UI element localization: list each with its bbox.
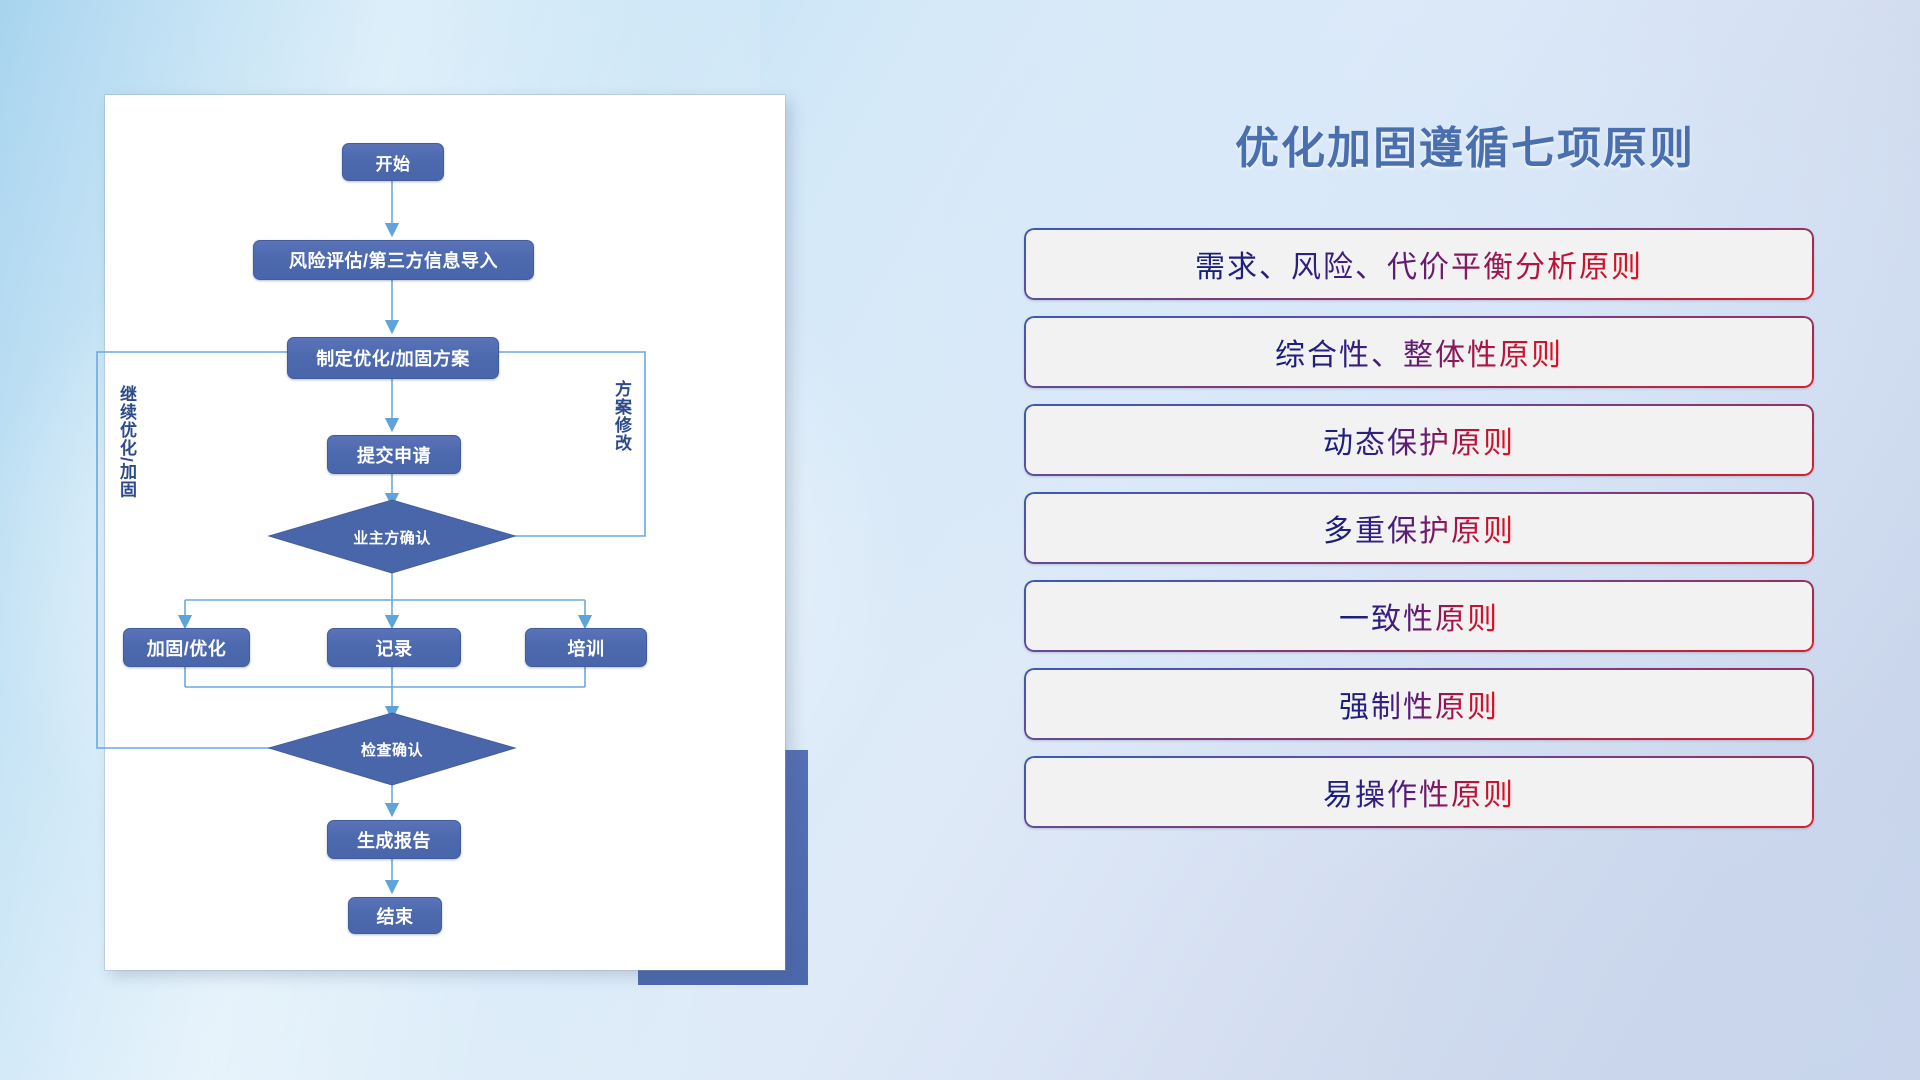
principles-list: 需求、风险、代价平衡分析原则 综合性、整体性原则 动态保护原则 多重保护原则 一… — [1024, 228, 1814, 844]
principle-label: 多重保护原则 — [1323, 506, 1515, 550]
edge-label-plan-revision: 方案修改 — [613, 380, 630, 452]
principle-item[interactable]: 一致性原则 — [1024, 580, 1814, 652]
principle-label: 一致性原则 — [1339, 594, 1499, 638]
flow-node-risk-assessment[interactable]: 风险评估/第三方信息导入 — [253, 240, 534, 280]
principles-panel: 优化加固遵循七项原则 需求、风险、代价平衡分析原则 综合性、整体性原则 动态保护… — [1010, 0, 1920, 1080]
flow-node-submit-application[interactable]: 提交申请 — [327, 435, 461, 474]
flowchart: 业主方确认 检查确认 开始 风险评估/第三方信息导入 制定优化/加固方案 提交申… — [105, 95, 785, 970]
principle-item[interactable]: 需求、风险、代价平衡分析原则 — [1024, 228, 1814, 300]
flow-node-generate-report[interactable]: 生成报告 — [327, 820, 461, 859]
principle-label: 动态保护原则 — [1323, 418, 1515, 462]
flow-node-start[interactable]: 开始 — [342, 143, 444, 181]
principle-item[interactable]: 多重保护原则 — [1024, 492, 1814, 564]
flow-node-end[interactable]: 结束 — [348, 897, 442, 934]
principle-label: 强制性原则 — [1339, 682, 1499, 726]
flow-node-reinforce-optimize[interactable]: 加固/优化 — [123, 628, 250, 667]
edge-label-continue-optimize: 继续优化/加固 — [118, 385, 135, 499]
flow-node-check-confirm-label: 检查确认 — [312, 735, 472, 763]
flow-node-owner-confirm-label: 业主方确认 — [312, 523, 472, 551]
principle-label: 综合性、整体性原则 — [1275, 330, 1563, 374]
principle-item[interactable]: 强制性原则 — [1024, 668, 1814, 740]
flow-node-record[interactable]: 记录 — [327, 628, 461, 667]
flow-node-make-plan[interactable]: 制定优化/加固方案 — [287, 337, 499, 379]
principle-label: 需求、风险、代价平衡分析原则 — [1195, 242, 1643, 286]
flow-node-training[interactable]: 培训 — [525, 628, 647, 667]
principle-item[interactable]: 动态保护原则 — [1024, 404, 1814, 476]
principle-item[interactable]: 易操作性原则 — [1024, 756, 1814, 828]
principle-item[interactable]: 综合性、整体性原则 — [1024, 316, 1814, 388]
principle-label: 易操作性原则 — [1323, 770, 1515, 814]
principles-title: 优化加固遵循七项原则 — [1010, 112, 1920, 176]
